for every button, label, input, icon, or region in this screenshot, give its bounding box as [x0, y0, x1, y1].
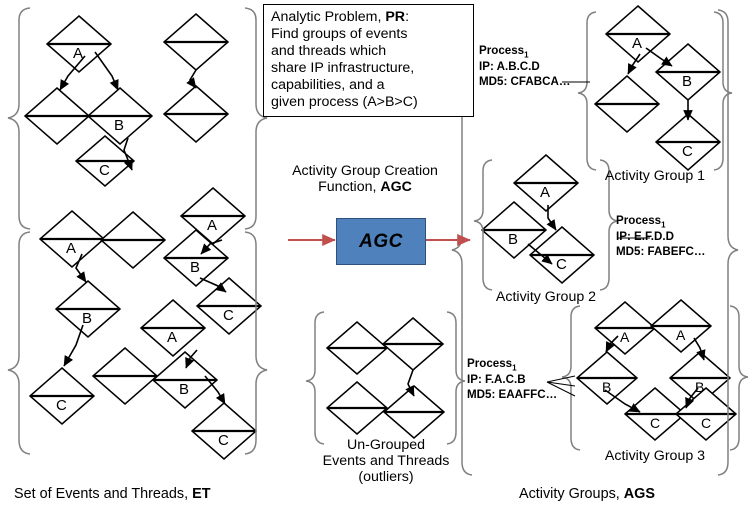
event-node [197, 278, 261, 334]
event-node [93, 348, 157, 404]
event-label: B [602, 379, 611, 396]
process-name: Process1 [479, 44, 570, 60]
event-label: A [167, 329, 177, 347]
ungrouped-line3: (outliers) [312, 469, 460, 485]
event-label: A [207, 217, 217, 235]
event-node [25, 88, 89, 144]
event-node [141, 300, 205, 356]
ungrouped-line2: Events and Threads [312, 453, 460, 469]
event-label: B [114, 117, 124, 135]
ungrouped-caption: Un-Grouped Events and Threads (outliers) [312, 437, 460, 485]
event-node [595, 76, 659, 132]
event-node [606, 6, 670, 62]
event-label: A [676, 327, 685, 344]
event-node [40, 211, 104, 267]
problem-line-3: and threads which [271, 43, 467, 60]
event-node [384, 386, 444, 438]
activity-group-3-label: Activity Group 3 [585, 448, 725, 464]
event-node [101, 212, 165, 268]
event-label: B [82, 310, 92, 328]
event-label: B [682, 73, 692, 91]
agc-caption-line2: Function, AGC [260, 179, 470, 195]
event-node [656, 44, 720, 100]
problem-line-5: capabilities, and a [271, 77, 467, 94]
ungrouped-line1: Un-Grouped [312, 437, 460, 453]
process-md5: MD5: CFABCA… [479, 75, 570, 90]
process-ip: IP: E.F.D.D [616, 230, 706, 245]
event-label: A [620, 329, 629, 346]
agc-caption-line1: Activity Group Creation [260, 163, 470, 179]
event-label: A [540, 184, 550, 202]
diagram-canvas: A B C A B C A B C A B C A B C A B C A B … [0, 0, 755, 524]
process-callout-group2: Process1 IP: E.F.D.D MD5: FABEFC… [616, 214, 706, 260]
event-node [595, 302, 655, 354]
agc-process-box[interactable]: AGC [336, 218, 426, 265]
event-node [656, 114, 720, 170]
event-label: C [99, 162, 110, 180]
problem-line-2: Find groups of events [271, 26, 467, 43]
left-panel-caption: Set of Events and Threads, ET [14, 486, 211, 502]
event-node [30, 368, 94, 424]
event-label: C [556, 256, 567, 274]
process-ip: IP: F.A.C.B [467, 373, 557, 388]
event-node [164, 86, 228, 142]
event-label: C [650, 415, 660, 432]
event-label: C [701, 415, 711, 432]
event-label: C [223, 307, 234, 325]
event-node [676, 388, 736, 440]
process-callout-group3: Process1 IP: F.A.C.B MD5: EAAFFC… [467, 357, 557, 403]
event-node [164, 14, 228, 70]
process-ip: IP: A.B.C.D [479, 60, 570, 75]
process-name: Process1 [467, 357, 557, 373]
event-node [577, 352, 637, 404]
event-label: C [218, 432, 229, 450]
event-node [327, 382, 387, 434]
process-md5: MD5: FABEFC… [616, 245, 706, 260]
event-node [383, 318, 443, 370]
event-node [192, 403, 256, 459]
problem-line-1: Analytic Problem, PR: [271, 9, 467, 26]
event-label: C [682, 143, 693, 161]
event-label: B [190, 259, 200, 277]
event-node [327, 322, 387, 374]
event-label: A [66, 240, 76, 258]
event-label: C [56, 397, 67, 415]
agc-caption: Activity Group Creation Function, AGC [260, 163, 470, 195]
event-label: B [179, 381, 189, 399]
event-label: B [695, 379, 704, 396]
analytic-problem-box: Analytic Problem, PR: Find groups of eve… [263, 4, 474, 117]
event-node [56, 281, 120, 337]
event-label: A [73, 45, 83, 63]
activity-group-2-label: Activity Group 2 [476, 289, 616, 305]
activity-group-1-label: Activity Group 1 [585, 168, 725, 184]
process-callout-group1: Process1 IP: A.B.C.D MD5: CFABCA… [479, 44, 570, 90]
process-name: Process1 [616, 214, 706, 230]
right-panel-caption: Activity Groups, AGS [519, 486, 655, 502]
event-node [88, 88, 152, 144]
event-label: A [632, 35, 642, 53]
problem-line-6: given process (A>B>C) [271, 94, 467, 111]
event-node [514, 155, 578, 211]
process-md5: MD5: EAAFFC… [467, 388, 557, 403]
problem-line-4: share IP infrastructure, [271, 60, 467, 77]
event-node [651, 300, 711, 352]
event-label: B [508, 231, 518, 249]
